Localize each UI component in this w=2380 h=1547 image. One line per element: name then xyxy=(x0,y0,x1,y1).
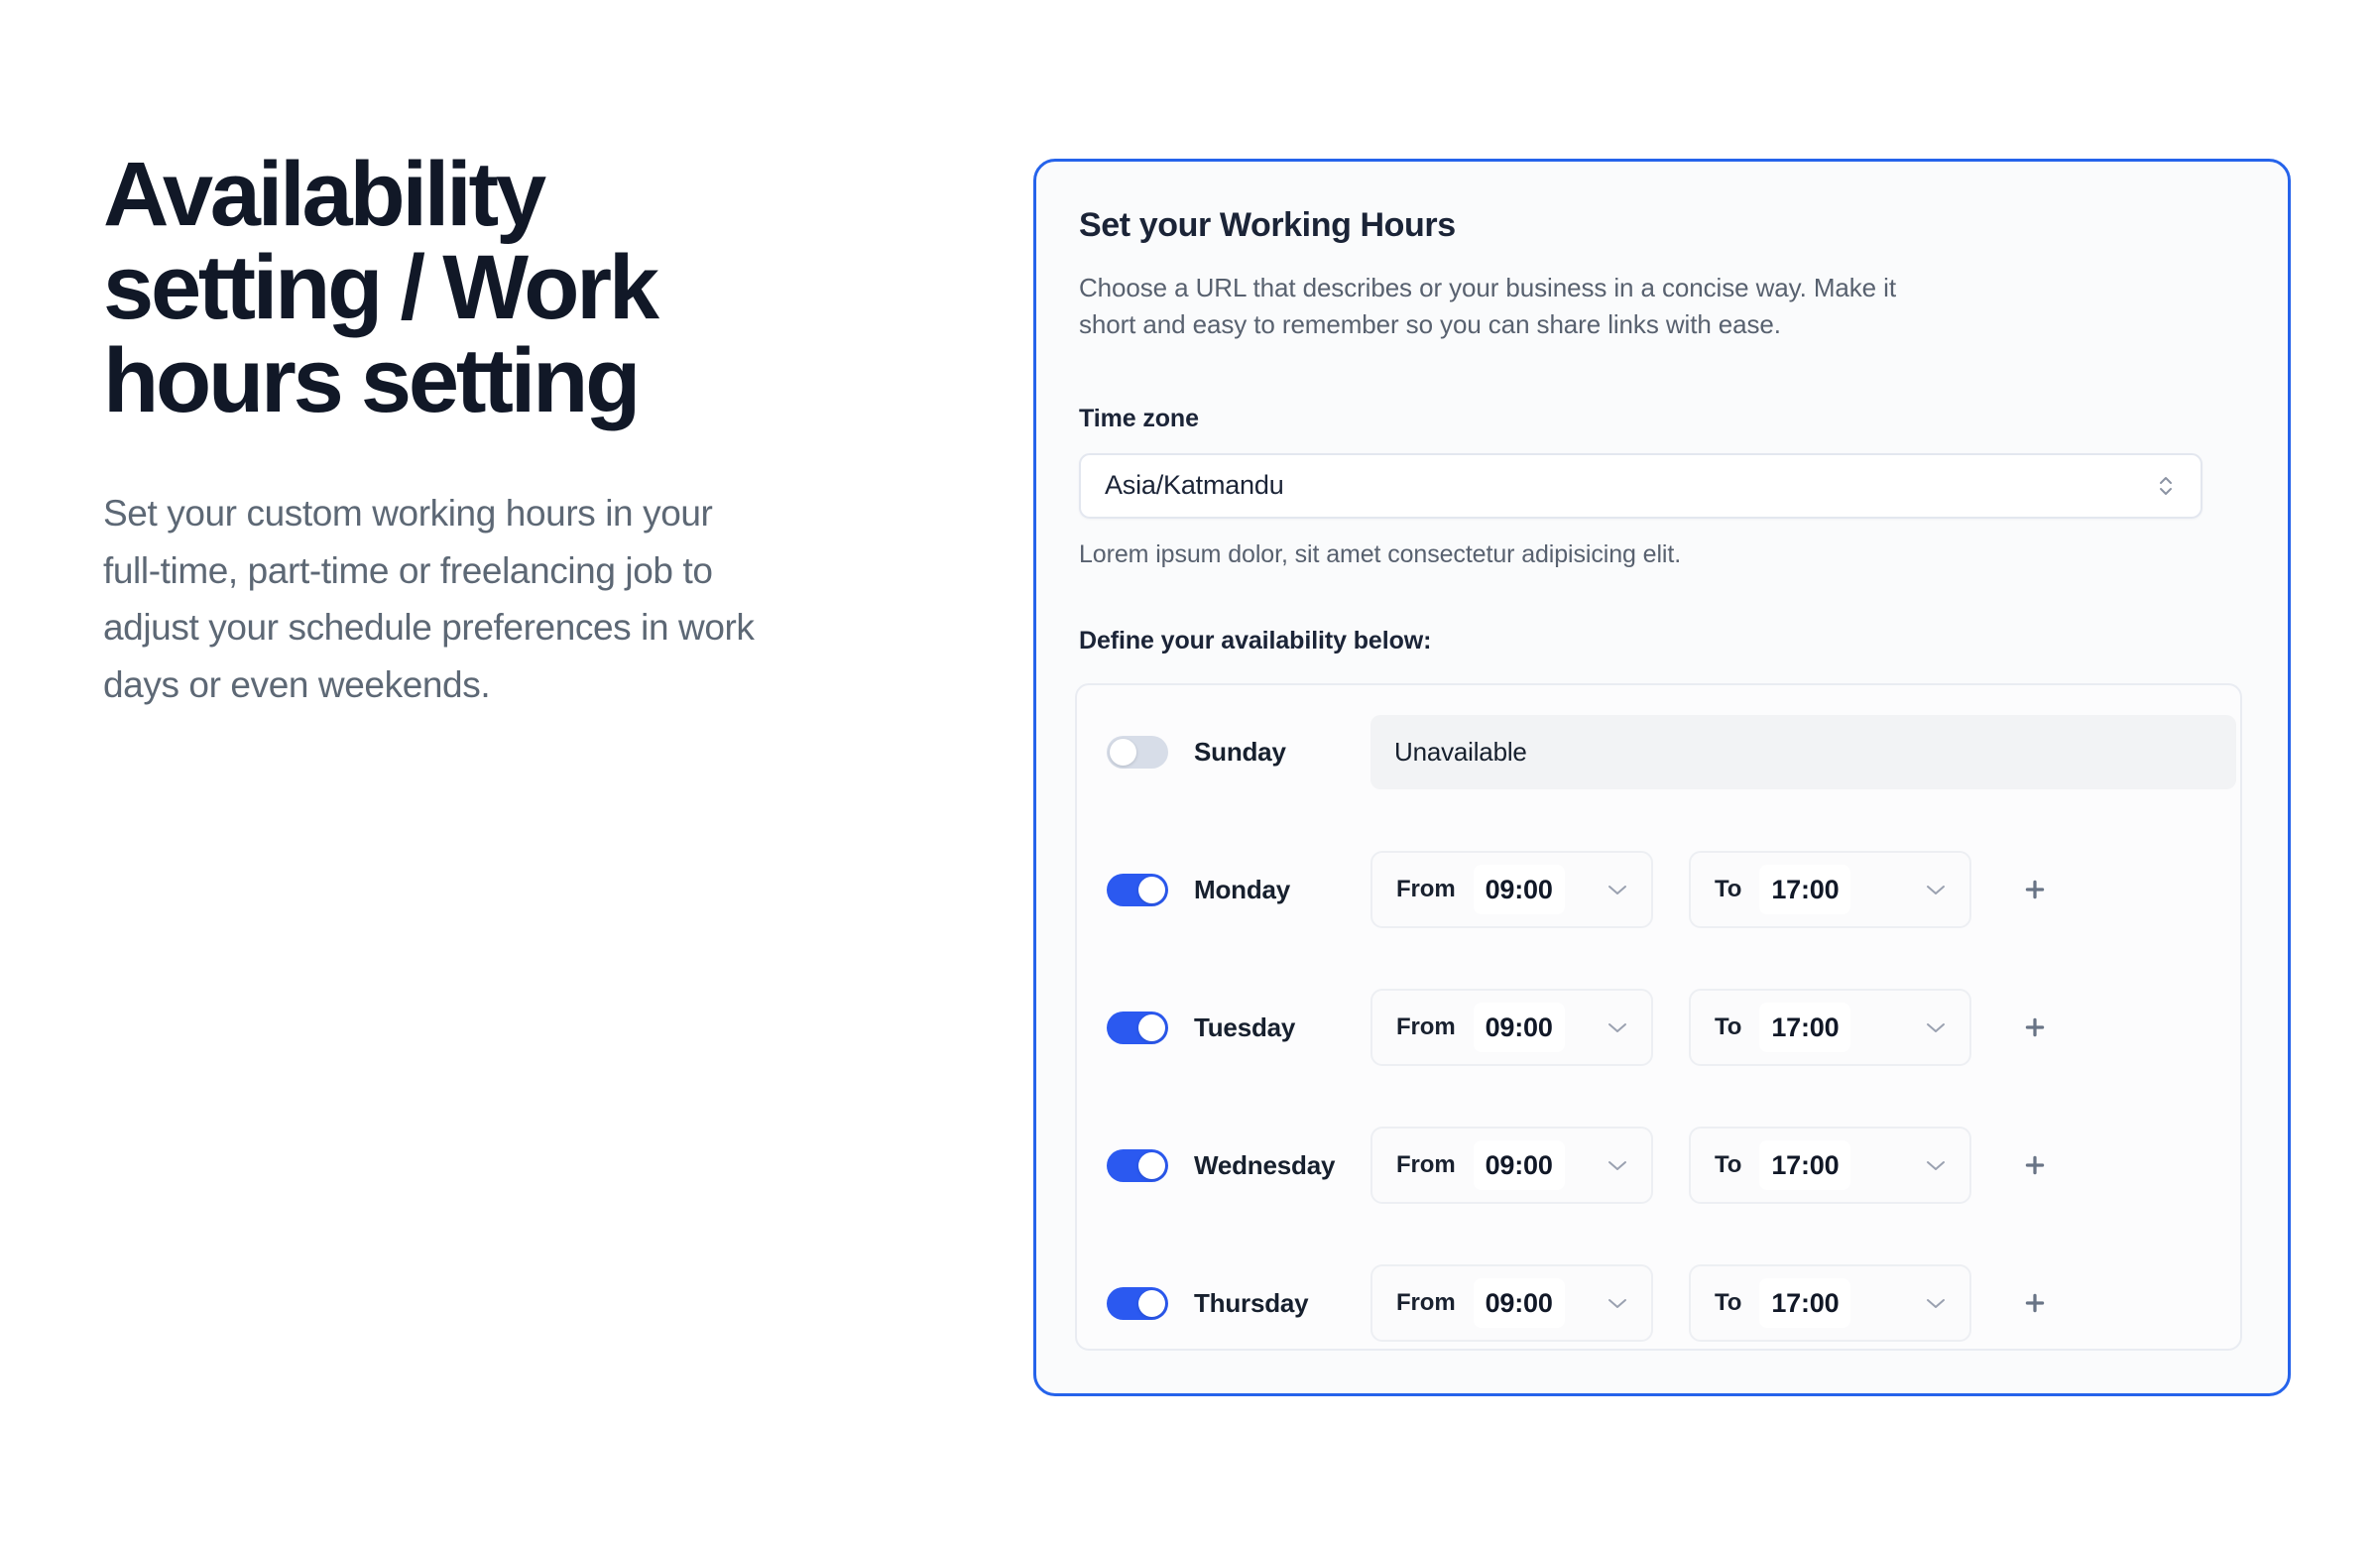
from-time-pill: 09:00 xyxy=(1474,1278,1565,1328)
to-time-field-thursday[interactable]: To 17:00 xyxy=(1689,1264,1971,1342)
toggle-knob xyxy=(1138,877,1165,903)
page-root: Availability setting / Work hours settin… xyxy=(0,0,2380,1547)
card-description-line-2: short and easy to remember so you can sh… xyxy=(1079,306,1991,343)
chevron-down-icon xyxy=(1924,1158,1948,1172)
card-description-line-1: Choose a URL that describes or your busi… xyxy=(1079,270,1991,306)
day-toggle-sunday[interactable] xyxy=(1107,736,1168,769)
from-time-field-wednesday[interactable]: From 09:00 xyxy=(1370,1127,1653,1204)
page-title: Availability setting / Work hours settin… xyxy=(103,149,956,427)
to-time-value: 17:00 xyxy=(1771,875,1839,905)
from-time-value: 09:00 xyxy=(1486,1288,1553,1319)
timezone-select[interactable]: Asia/Katmandu xyxy=(1079,453,2202,519)
page-subtitle-line-4: days or even weekends. xyxy=(103,656,946,713)
day-toggle-thursday[interactable] xyxy=(1107,1287,1168,1320)
card-content: Set your Working Hours Choose a URL that… xyxy=(1036,162,2288,1351)
chevron-down-icon xyxy=(1606,883,1629,896)
unavailable-panel: Unavailable xyxy=(1370,715,2236,789)
plus-icon xyxy=(2022,1152,2048,1178)
toggle-knob xyxy=(1138,1290,1165,1317)
working-hours-card: Set your Working Hours Choose a URL that… xyxy=(1033,159,2291,1396)
chevron-up-down-icon xyxy=(2157,470,2175,502)
page-subtitle: Set your custom working hours in your fu… xyxy=(103,485,946,712)
from-time-field-tuesday[interactable]: From 09:00 xyxy=(1370,989,1653,1066)
availability-label: Define your availability below: xyxy=(1079,627,2245,655)
to-time-pill: 17:00 xyxy=(1759,1140,1850,1190)
chevron-down-icon xyxy=(1606,1020,1629,1034)
plus-icon xyxy=(2022,1290,2048,1316)
to-label: To xyxy=(1715,1151,1741,1179)
from-time-value: 09:00 xyxy=(1486,1150,1553,1181)
from-label: From xyxy=(1396,876,1456,903)
add-time-slot-button-tuesday[interactable] xyxy=(2015,1008,2055,1047)
to-label: To xyxy=(1715,876,1741,903)
timezone-label: Time zone xyxy=(1079,405,2245,433)
day-row: Thursday From 09:00 To 17:00 xyxy=(1077,1258,2240,1349)
from-label: From xyxy=(1396,1151,1456,1179)
page-subtitle-line-1: Set your custom working hours in your xyxy=(103,485,946,541)
from-time-value: 09:00 xyxy=(1486,875,1553,905)
chevron-down-icon xyxy=(1924,883,1948,896)
to-time-value: 17:00 xyxy=(1771,1012,1839,1043)
timezone-hint: Lorem ipsum dolor, sit amet consectetur … xyxy=(1079,540,2245,569)
from-time-pill: 09:00 xyxy=(1474,1003,1565,1052)
to-time-pill: 17:00 xyxy=(1759,1278,1850,1328)
to-time-value: 17:00 xyxy=(1771,1150,1839,1181)
plus-icon xyxy=(2022,877,2048,902)
day-label-monday: Monday xyxy=(1194,875,1370,905)
from-time-value: 09:00 xyxy=(1486,1012,1553,1043)
day-toggle-wednesday[interactable] xyxy=(1107,1149,1168,1182)
card-description: Choose a URL that describes or your busi… xyxy=(1079,270,1991,343)
timezone-select-value: Asia/Katmandu xyxy=(1105,470,1284,501)
card-title: Set your Working Hours xyxy=(1079,206,2245,245)
add-time-slot-button-wednesday[interactable] xyxy=(2015,1145,2055,1185)
day-label-thursday: Thursday xyxy=(1194,1288,1370,1319)
toggle-knob xyxy=(1138,1152,1165,1179)
add-time-slot-button-thursday[interactable] xyxy=(2015,1283,2055,1323)
chevron-down-icon xyxy=(1606,1158,1629,1172)
day-row: Monday From 09:00 To 17:00 xyxy=(1077,845,2240,935)
page-subtitle-line-3: adjust your schedule preferences in work xyxy=(103,599,946,655)
add-time-slot-button-monday[interactable] xyxy=(2015,870,2055,909)
from-label: From xyxy=(1396,1289,1456,1317)
to-label: To xyxy=(1715,1289,1741,1317)
to-time-value: 17:00 xyxy=(1771,1288,1839,1319)
day-row: Sunday Unavailable xyxy=(1077,707,2240,797)
toggle-knob xyxy=(1138,1014,1165,1041)
page-title-line-3: hours setting xyxy=(103,335,956,428)
page-title-line-2: setting / Work xyxy=(103,242,956,335)
page-subtitle-line-2: full-time, part-time or freelancing job … xyxy=(103,542,946,599)
day-row: Tuesday From 09:00 To 17:00 xyxy=(1077,983,2240,1073)
to-time-pill: 17:00 xyxy=(1759,1003,1850,1052)
from-time-field-thursday[interactable]: From 09:00 xyxy=(1370,1264,1653,1342)
to-time-field-tuesday[interactable]: To 17:00 xyxy=(1689,989,1971,1066)
toggle-knob xyxy=(1110,739,1136,766)
chevron-down-icon xyxy=(1924,1020,1948,1034)
from-time-field-monday[interactable]: From 09:00 xyxy=(1370,851,1653,928)
to-label: To xyxy=(1715,1013,1741,1041)
chevron-down-icon xyxy=(1924,1296,1948,1310)
from-time-pill: 09:00 xyxy=(1474,865,1565,914)
to-time-field-monday[interactable]: To 17:00 xyxy=(1689,851,1971,928)
day-toggle-monday[interactable] xyxy=(1107,874,1168,906)
availability-panel: Sunday Unavailable Monday From 09:00 xyxy=(1075,683,2242,1351)
from-label: From xyxy=(1396,1013,1456,1041)
day-label-wednesday: Wednesday xyxy=(1194,1150,1370,1181)
to-time-field-wednesday[interactable]: To 17:00 xyxy=(1689,1127,1971,1204)
unavailable-text: Unavailable xyxy=(1394,737,1527,768)
page-title-line-1: Availability xyxy=(103,149,956,242)
day-label-sunday: Sunday xyxy=(1194,737,1370,768)
hero-section: Availability setting / Work hours settin… xyxy=(103,149,956,713)
day-row: Wednesday From 09:00 To 17:00 xyxy=(1077,1121,2240,1211)
day-label-tuesday: Tuesday xyxy=(1194,1012,1370,1043)
to-time-pill: 17:00 xyxy=(1759,865,1850,914)
plus-icon xyxy=(2022,1014,2048,1040)
day-toggle-tuesday[interactable] xyxy=(1107,1011,1168,1044)
chevron-down-icon xyxy=(1606,1296,1629,1310)
from-time-pill: 09:00 xyxy=(1474,1140,1565,1190)
